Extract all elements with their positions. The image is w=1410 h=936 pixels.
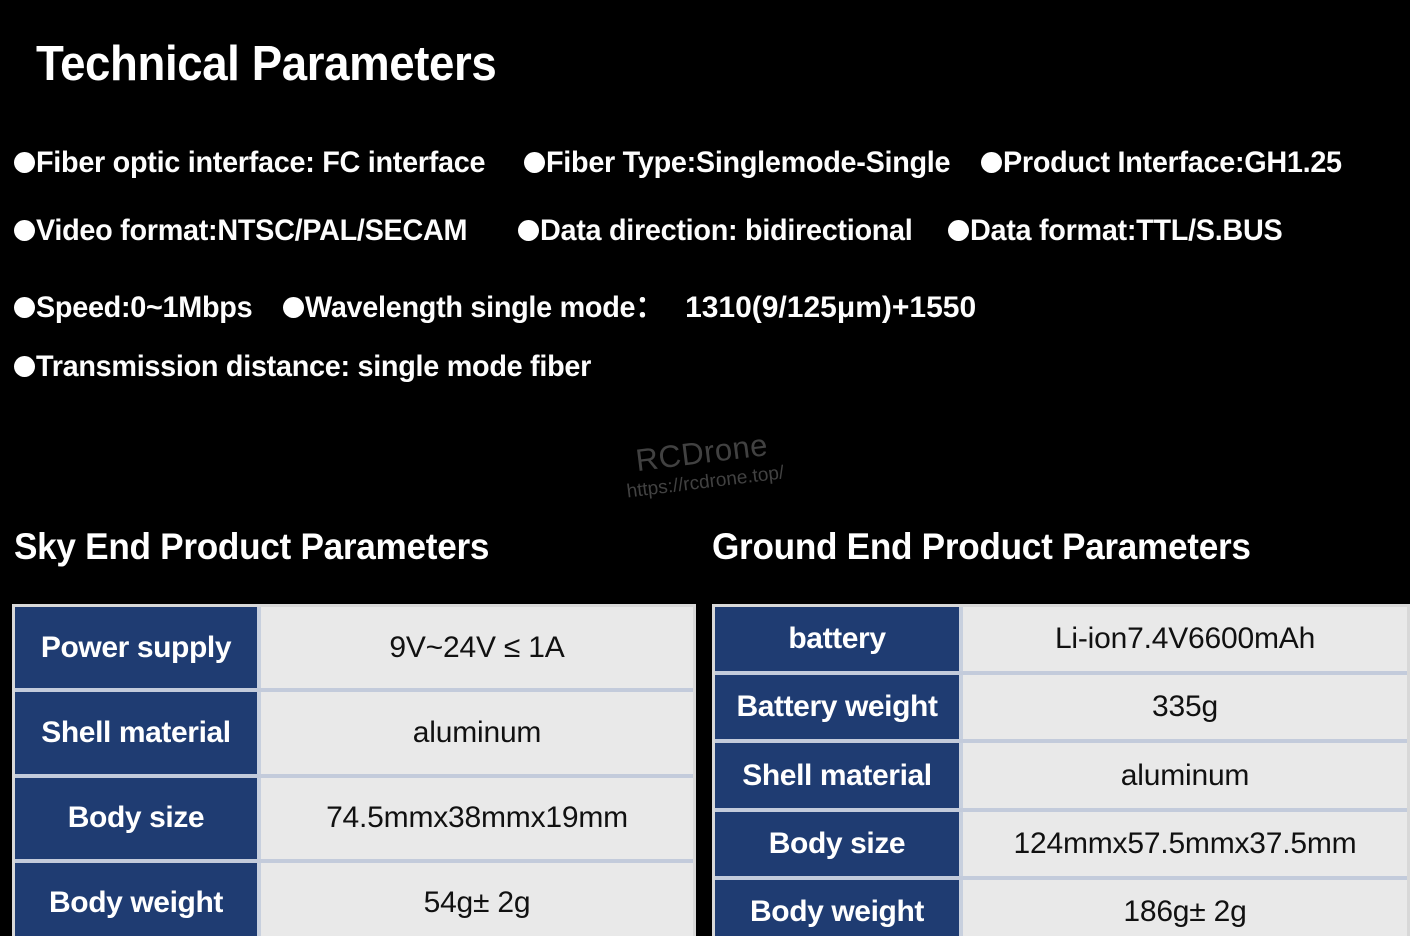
spec-wavelength-value: 1310(9/125μm)+1550 bbox=[685, 291, 976, 325]
spec-label: Product Interface:GH1.25 bbox=[1003, 146, 1342, 180]
page-title: Technical Parameters bbox=[36, 36, 496, 92]
spec-row: Fiber optic interface: FC interface Fibe… bbox=[14, 146, 1410, 214]
row-label: Battery weight bbox=[715, 675, 963, 739]
ground-parameters-table: battery Li-ion7.4V6600mAh Battery weight… bbox=[712, 604, 1410, 936]
spec-item-fiber-type: Fiber Type:Singlemode-Single bbox=[524, 146, 967, 180]
row-label: Body weight bbox=[15, 863, 261, 936]
bullet-icon bbox=[14, 297, 35, 318]
bullet-icon bbox=[948, 220, 969, 241]
spec-item-fiber-optic-interface: Fiber optic interface: FC interface bbox=[14, 146, 504, 180]
bullet-icon bbox=[518, 220, 539, 241]
bullet-icon bbox=[14, 152, 35, 173]
row-value: Li-ion7.4V6600mAh bbox=[963, 607, 1407, 671]
table-row: Body weight 186g± 2g bbox=[715, 880, 1407, 936]
spec-row: Video format:NTSC/PAL/SECAM Data directi… bbox=[14, 214, 1410, 282]
spec-item-transmission-distance: Transmission distance: single mode fiber bbox=[14, 350, 614, 384]
row-label: Body size bbox=[715, 812, 963, 876]
bullet-icon bbox=[14, 220, 35, 241]
row-value: aluminum bbox=[261, 692, 693, 773]
spec-label: Video format:NTSC/PAL/SECAM bbox=[36, 214, 467, 248]
table-row: Battery weight 335g bbox=[715, 675, 1407, 743]
sky-parameters-table: Power supply 9V~24V ≤ 1A Shell material … bbox=[12, 604, 696, 936]
row-label: Power supply bbox=[15, 607, 261, 688]
spec-label: Data direction: bidirectional bbox=[540, 214, 913, 248]
spec-label: Data format:TTL/S.BUS bbox=[970, 214, 1282, 248]
table-row: Body size 74.5mmx38mmx19mm bbox=[15, 778, 693, 863]
spec-label: Fiber Type:Singlemode-Single bbox=[546, 146, 950, 180]
row-label: Body size bbox=[15, 778, 261, 859]
spec-item-data-format: Data format:TTL/S.BUS bbox=[948, 214, 1295, 248]
ground-section-heading: Ground End Product Parameters bbox=[712, 526, 1251, 568]
watermark-name: RCDrone bbox=[621, 426, 783, 481]
spec-list: Fiber optic interface: FC interface Fibe… bbox=[14, 146, 1410, 418]
sky-section-heading: Sky End Product Parameters bbox=[14, 526, 489, 568]
row-value: 335g bbox=[963, 675, 1407, 739]
table-row: battery Li-ion7.4V6600mAh bbox=[715, 607, 1407, 675]
row-label: Shell material bbox=[15, 692, 261, 773]
spec-label: Transmission distance: single mode fiber bbox=[36, 350, 591, 384]
row-value: 124mmx57.5mmx37.5mm bbox=[963, 812, 1407, 876]
table-row: Body weight 54g± 2g bbox=[15, 863, 693, 936]
spec-row: Transmission distance: single mode fiber bbox=[14, 350, 1410, 418]
watermark-url: https://rcdrone.top/ bbox=[626, 462, 786, 503]
spec-label: Wavelength single mode： bbox=[305, 282, 664, 326]
row-value: 186g± 2g bbox=[963, 880, 1407, 936]
table-row: Body size 124mmx57.5mmx37.5mm bbox=[715, 812, 1407, 880]
bullet-icon bbox=[14, 356, 35, 377]
bullet-icon bbox=[524, 152, 545, 173]
row-label: Shell material bbox=[715, 743, 963, 807]
spec-item-product-interface: Product Interface:GH1.25 bbox=[981, 146, 1356, 180]
bullet-icon bbox=[283, 297, 304, 318]
table-row: Shell material aluminum bbox=[15, 692, 693, 777]
row-value: aluminum bbox=[963, 743, 1407, 807]
spec-row: Speed:0~1Mbps Wavelength single mode： 13… bbox=[14, 282, 1410, 350]
spec-item-speed: Speed:0~1Mbps bbox=[14, 291, 261, 325]
spec-label: Speed:0~1Mbps bbox=[36, 291, 252, 325]
watermark-center: RCDrone https://rcdrone.top/ bbox=[621, 426, 785, 504]
spec-item-wavelength: Wavelength single mode： 1310(9/125μm)+15… bbox=[283, 282, 976, 326]
row-value: 9V~24V ≤ 1A bbox=[261, 607, 693, 688]
row-value: 54g± 2g bbox=[261, 863, 693, 936]
spec-label: Fiber optic interface: FC interface bbox=[36, 146, 485, 180]
spec-item-video-format: Video format:NTSC/PAL/SECAM bbox=[14, 214, 485, 248]
bullet-icon bbox=[981, 152, 1002, 173]
spec-item-data-direction: Data direction: bidirectional bbox=[518, 214, 928, 248]
table-row: Power supply 9V~24V ≤ 1A bbox=[15, 607, 693, 692]
row-label: Body weight bbox=[715, 880, 963, 936]
table-row: Shell material aluminum bbox=[715, 743, 1407, 811]
row-label: battery bbox=[715, 607, 963, 671]
row-value: 74.5mmx38mmx19mm bbox=[261, 778, 693, 859]
